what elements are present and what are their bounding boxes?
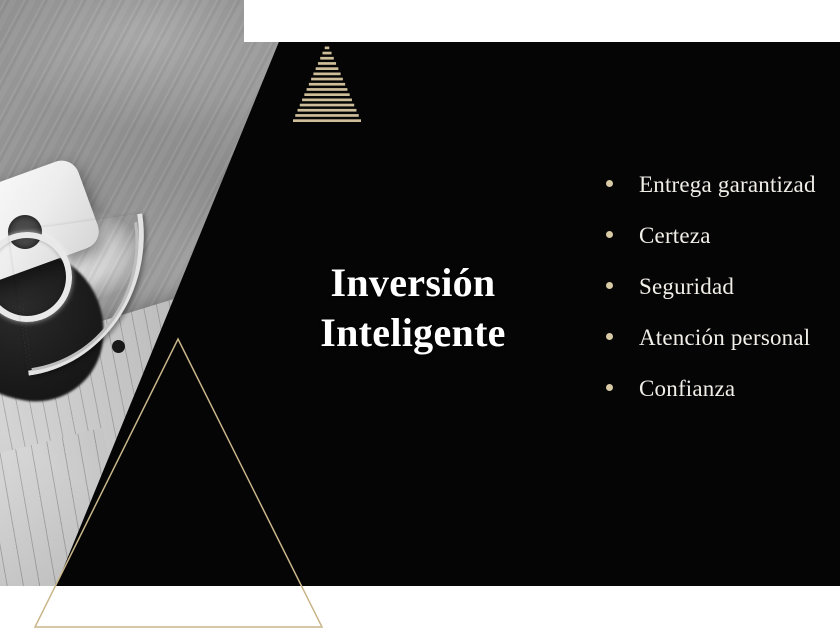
list-item: Confianza — [606, 376, 840, 427]
page-title-line-2: Inteligente — [250, 308, 576, 358]
list-item: Seguridad — [606, 274, 840, 325]
list-item-label: Seguridad — [639, 274, 734, 300]
page-title: Inversión Inteligente — [250, 258, 576, 358]
bottom-white-band — [0, 586, 840, 630]
list-item: Entrega garantizad — [606, 172, 840, 223]
bullet-dot-icon — [606, 282, 613, 289]
bullet-dot-icon — [606, 231, 613, 238]
feature-bullet-list: Entrega garantizad Certeza Seguridad Ate… — [606, 172, 840, 427]
list-item-label: Atención personal — [639, 325, 810, 351]
slide-canvas: Inversión Inteligente Entrega garantizad… — [0, 0, 840, 630]
list-item-label: Certeza — [639, 223, 711, 249]
page-title-line-1: Inversión — [250, 258, 576, 308]
striped-pyramid-logo — [293, 44, 361, 122]
top-white-band — [244, 0, 840, 42]
bullet-dot-icon — [606, 384, 613, 391]
list-item-label: Confianza — [639, 376, 735, 402]
list-item-label: Entrega garantizad — [639, 172, 816, 198]
list-item: Atención personal — [606, 325, 840, 376]
list-item: Certeza — [606, 223, 840, 274]
bullet-dot-icon — [606, 333, 613, 340]
bullet-dot-icon — [606, 180, 613, 187]
